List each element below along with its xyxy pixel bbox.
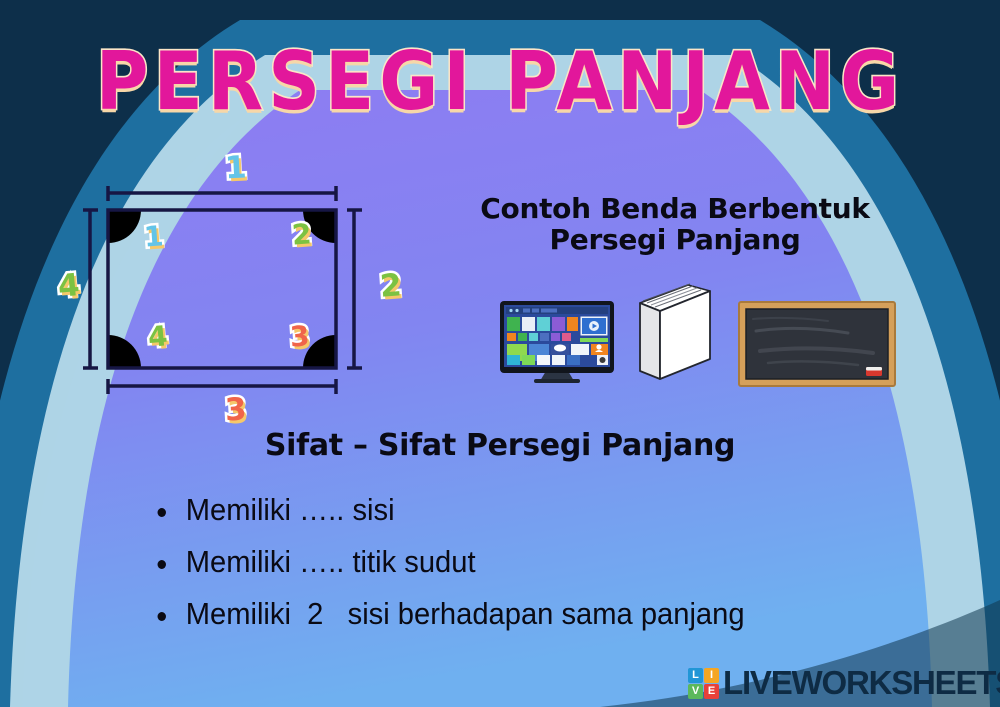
liveworksheets-wordmark: LIVEWORKSHEETS [723, 664, 1000, 702]
worksheet-page: PERSEGI PANJANG [0, 0, 1000, 707]
book-icon [630, 281, 716, 385]
side-label-left: 4 [57, 270, 81, 303]
list-item: Memiliki ….. titik sudut [150, 544, 921, 580]
sifat-heading: Sifat – Sifat Persegi Panjang [0, 428, 1000, 463]
dimension-line-right [347, 210, 362, 368]
side-label-right: 2 [379, 270, 403, 302]
contoh-heading-line2: Persegi Panjang [460, 224, 890, 255]
list-item: Memiliki ….. sisi [150, 492, 921, 528]
list-item: Memiliki 2 sisi berhadapan sama panjang [150, 596, 921, 632]
liveworksheets-logo-tiles: L I V E [688, 668, 719, 699]
side-label-bottom: 3 [224, 394, 247, 426]
sifat-list: Memiliki ….. sisi Memiliki ….. titik sud… [150, 492, 970, 648]
liveworksheets-logo[interactable]: L I V E LIVEWORKSHEETS [688, 663, 1000, 703]
dimension-line-bottom [108, 379, 336, 394]
example-objects [490, 281, 910, 391]
logo-tile-e: E [704, 684, 719, 699]
page-title: PERSEGI PANJANG [0, 34, 1000, 128]
dimension-line-left [83, 210, 98, 368]
corner-label-bottom-left: 4 [147, 322, 169, 352]
blackboard-icon [738, 301, 896, 387]
corner-label-bottom-right: 3 [289, 322, 310, 351]
contoh-heading-line1: Contoh Benda Berbentuk [460, 193, 890, 224]
corner-label-top-right: 2 [291, 220, 312, 249]
dimension-line-top [108, 186, 336, 201]
side-label-top: 1 [224, 152, 247, 184]
logo-tile-v: V [688, 684, 703, 699]
logo-tile-i: I [704, 668, 719, 683]
logo-tile-l: L [688, 668, 703, 683]
corner-label-top-left: 1 [143, 222, 164, 251]
rectangle-diagram: 1 2 3 4 1 2 3 4 [40, 145, 460, 440]
television-icon [498, 299, 616, 387]
contoh-heading: Contoh Benda Berbentuk Persegi Panjang [460, 193, 890, 256]
